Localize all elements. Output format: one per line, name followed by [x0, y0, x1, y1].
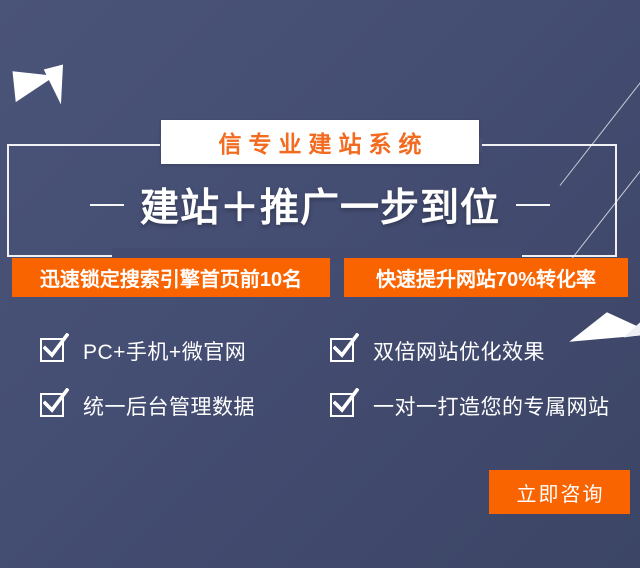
feature-item-label: 统一后台管理数据: [83, 391, 255, 421]
feature-row: PC+手机+微官网 双倍网站优化效果: [40, 330, 640, 372]
checkbox-checked-icon: [330, 338, 356, 364]
feature-item: 一对一打造您的专属网站: [330, 385, 640, 427]
diagonal-line-1: [560, 67, 640, 186]
highlight-strip-left: 迅速锁定搜索引擎首页前10名: [12, 258, 330, 297]
consult-now-button-label: 立即咨询: [515, 478, 605, 507]
feature-item: 统一后台管理数据: [40, 385, 330, 427]
feature-list: PC+手机+微官网 双倍网站优化效果: [40, 330, 640, 427]
highlight-strip-right-label: 快速提升网站70%转化率: [376, 263, 596, 292]
feature-item: PC+手机+微官网: [40, 330, 330, 372]
feature-item-label: 一对一打造您的专属网站: [373, 391, 610, 421]
headline-row: 建站＋推广一步到位: [0, 177, 640, 233]
promo-banner: 信专业建站系统 建站＋推广一步到位 迅速锁定搜索引擎首页前10名 快速提升网站7…: [0, 0, 640, 568]
highlight-strip-right: 快速提升网站70%转化率: [344, 258, 628, 297]
feature-row: 统一后台管理数据 一对一打造您的专属网站: [40, 385, 640, 427]
headline-rule-right: [516, 204, 550, 206]
feature-item-label: PC+手机+微官网: [83, 336, 246, 366]
checkbox-checked-icon: [40, 393, 66, 419]
title-badge-label: 信专业建站系统: [212, 125, 429, 159]
highlight-strip-left-label: 迅速锁定搜索引擎首页前10名: [40, 263, 302, 292]
feature-item: 双倍网站优化效果: [330, 330, 640, 372]
paper-plane-wing-icon: [42, 64, 63, 105]
paper-plane-icon: [12, 67, 57, 102]
headline-rule-left: [90, 204, 124, 206]
feature-item-label: 双倍网站优化效果: [373, 336, 545, 366]
checkbox-checked-icon: [40, 338, 66, 364]
checkbox-checked-icon: [330, 393, 356, 419]
consult-now-button[interactable]: 立即咨询: [489, 470, 630, 514]
title-badge: 信专业建站系统: [161, 120, 479, 164]
headline-text: 建站＋推广一步到位: [140, 177, 500, 233]
